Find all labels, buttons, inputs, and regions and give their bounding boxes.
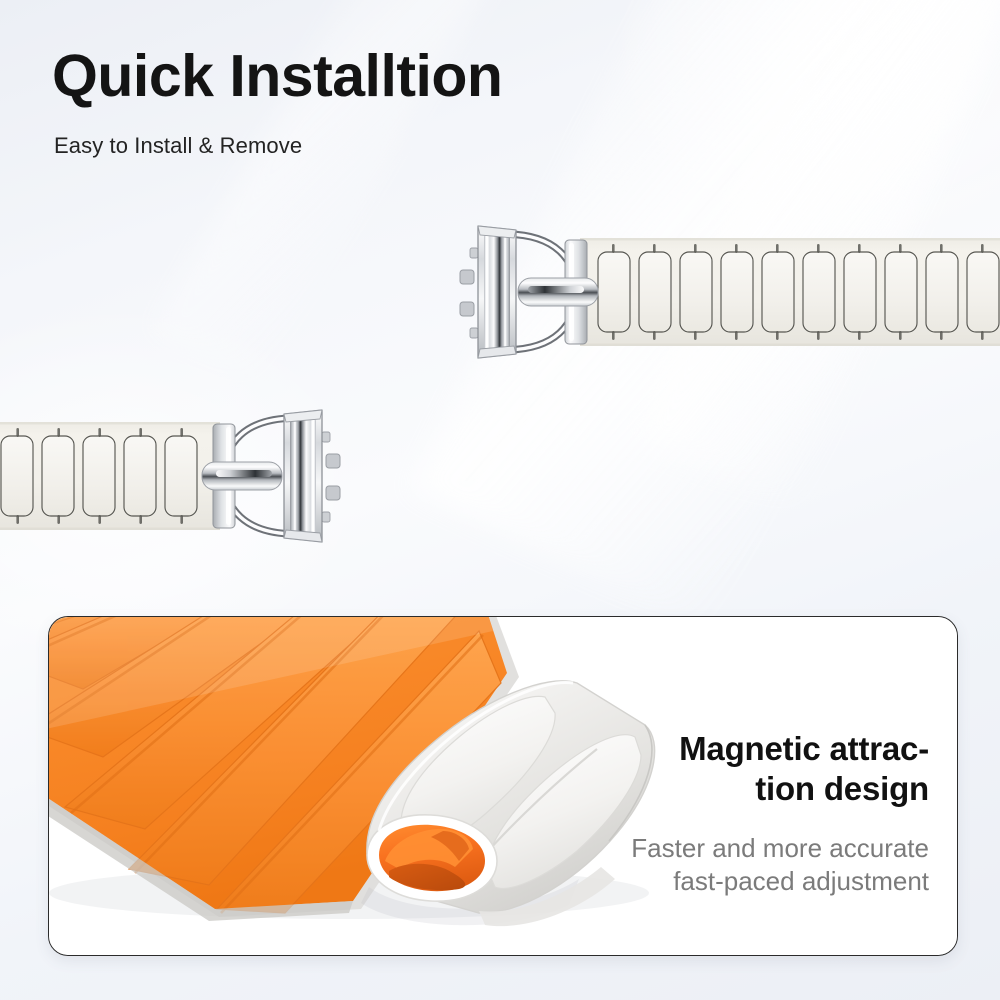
caption-sub-line-2: fast-paced adjustment	[509, 865, 929, 899]
caption-title-line-1: Magnetic attrac-	[679, 730, 929, 767]
product-marketing-image: Quick Installtion Easy to Install & Remo…	[0, 0, 1000, 1000]
caption-title-line-2: tion design	[509, 769, 929, 809]
page-title: Quick Installtion	[52, 46, 502, 108]
watch-band-lower-illustration	[0, 396, 548, 556]
watch-band-strap-upper	[452, 212, 1000, 372]
chrome-pin-horizontal	[518, 278, 598, 306]
caption-block: Magnetic attrac- tion design Faster and …	[509, 729, 929, 899]
chrome-pin-horizontal	[202, 462, 282, 490]
metal-connector-endpiece	[460, 226, 516, 358]
watch-band-strap-lower	[0, 396, 548, 556]
metal-connector-endpiece	[284, 410, 340, 542]
caption-sub-line-1: Faster and more accurate	[631, 833, 929, 863]
caption-subtitle: Faster and more accurate fast-paced adju…	[509, 832, 929, 900]
caption-title: Magnetic attrac- tion design	[509, 729, 929, 810]
feature-card-magnetic-design: Magnetic attrac- tion design Faster and …	[48, 616, 958, 956]
watch-band-upper-illustration	[452, 212, 1000, 372]
page-subtitle: Easy to Install & Remove	[54, 133, 302, 159]
